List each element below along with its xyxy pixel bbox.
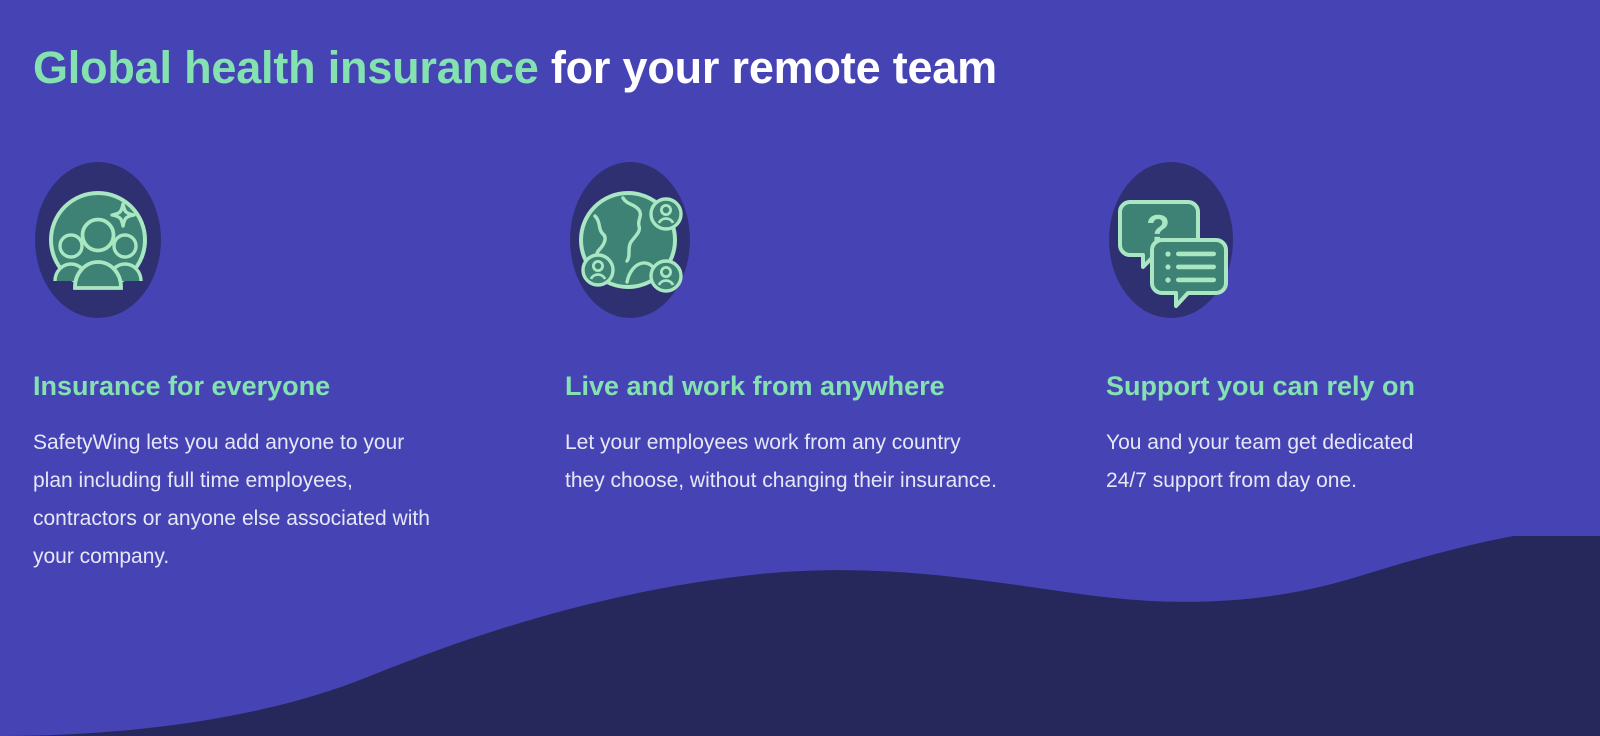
globe-people-icon [565,160,695,320]
page-title-plain: for your remote team [539,42,997,93]
feature-body: You and your team get dedicated 24/7 sup… [1106,424,1446,500]
chat-bubbles-support-icon: ? [1106,160,1236,320]
page-title: Global health insurance for your remote … [33,40,997,96]
people-group-health-icon [33,160,163,320]
feature-title: Insurance for everyone [33,370,513,402]
feature-title: Live and work from anywhere [565,370,1046,402]
page-title-accent: Global health insurance [33,42,539,93]
feature-body: Let your employees work from any country… [565,424,1005,500]
feature-card-live-and-work-from-anywhere: Live and work from anywhere Let your emp… [533,160,1066,500]
feature-card-support-you-can-rely-on: ? Support you can rely on You and your t… [1066,160,1599,500]
feature-columns: Insurance for everyone SafetyWing lets y… [0,160,1600,576]
feature-card-insurance-for-everyone: Insurance for everyone SafetyWing lets y… [0,160,533,576]
feature-section: Global health insurance for your remote … [0,0,1600,736]
feature-body: SafetyWing lets you add anyone to your p… [33,424,433,576]
feature-title: Support you can rely on [1106,370,1579,402]
